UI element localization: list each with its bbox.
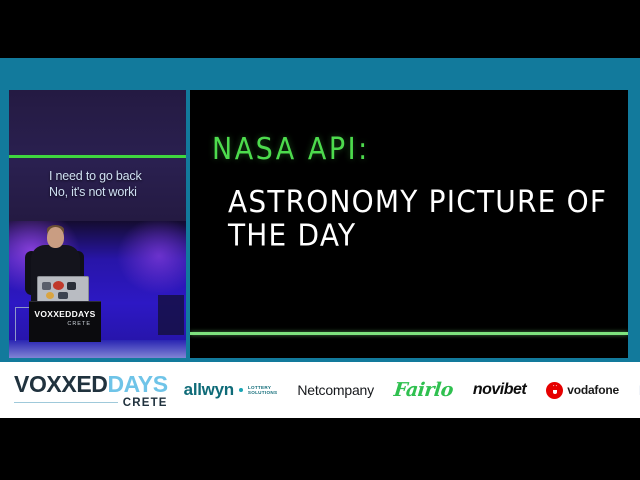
stage-side-screen [158, 295, 184, 335]
laptop-sticker [53, 281, 64, 290]
laptop [37, 276, 89, 304]
sponsor-logo-vodafone[interactable]: vodafone [546, 382, 619, 399]
microphone-stand [15, 307, 16, 341]
sponsor-logo-netcompany[interactable]: Netcompany [297, 382, 374, 398]
laptop-sticker [67, 282, 76, 290]
sponsor-logo-allwyn[interactable]: allwyn LOTTERY SOLUTIONS [184, 380, 278, 400]
speaker-head [47, 227, 64, 248]
vodafone-quote-icon [546, 382, 563, 399]
vodafone-wordmark: vodafone [567, 383, 619, 397]
podium-logo-days: DAYS [72, 309, 96, 319]
logo-city-row: CRETE [14, 397, 168, 409]
presentation-slide-panel[interactable]: NASA API: ASTRONOMY PICTURE OF THE DAY [190, 90, 628, 358]
laptop-sticker [42, 282, 51, 290]
video-caption: I need to go back No, it's not worki [49, 168, 186, 200]
podium-logo-voxxed: VOXXED [34, 309, 71, 319]
caption-line-1: I need to go back [49, 168, 186, 184]
video-frame: I need to go back No, it's not worki [0, 0, 640, 480]
logo-divider-rule [14, 402, 118, 404]
logo-city-text: CRETE [123, 397, 168, 409]
laptop-sticker [58, 292, 68, 299]
video-stage-area: VOXXEDDAYS CRETE [9, 221, 186, 358]
slide-accent-line [190, 332, 628, 335]
voxxed-days-logo[interactable]: VOXXEDDAYS CRETE [0, 372, 168, 409]
laptop-sticker [46, 292, 54, 299]
voxxed-days-wordmark: VOXXEDDAYS [14, 372, 168, 396]
video-projected-slide: I need to go back No, it's not worki [9, 90, 186, 221]
podium-logo-city: CRETE [29, 321, 101, 327]
sponsor-bar: VOXXEDDAYS CRETE allwyn LOTTERY SOLUTION… [0, 362, 640, 418]
logo-voxxed-text: VOXXED [14, 371, 107, 397]
sponsor-logo-list: allwyn LOTTERY SOLUTIONS Netcompany Fair… [168, 379, 640, 401]
video-slide-green-line [9, 155, 186, 158]
slide-subtitle: ASTRONOMY PICTURE OF THE DAY [228, 185, 628, 252]
sponsor-logo-novibet[interactable]: novibet [473, 381, 526, 399]
microphone-arm [15, 307, 29, 308]
speaker-video-panel[interactable]: I need to go back No, it's not worki [9, 90, 186, 358]
allwyn-tagline-line-2: SOLUTIONS [248, 390, 278, 395]
sponsor-logo-fairlo[interactable]: Fairlo [393, 379, 454, 401]
stage-floor [9, 340, 186, 358]
caption-line-2: No, it's not worki [49, 184, 186, 200]
allwyn-tagline: LOTTERY SOLUTIONS [248, 385, 278, 396]
podium-logo: VOXXEDDAYS [29, 309, 101, 319]
allwyn-dot-icon [239, 388, 243, 392]
allwyn-wordmark: allwyn [184, 380, 234, 400]
podium: VOXXEDDAYS CRETE [29, 301, 101, 342]
slide-title: NASA API: [212, 132, 370, 167]
logo-days-text: DAYS [107, 371, 167, 397]
